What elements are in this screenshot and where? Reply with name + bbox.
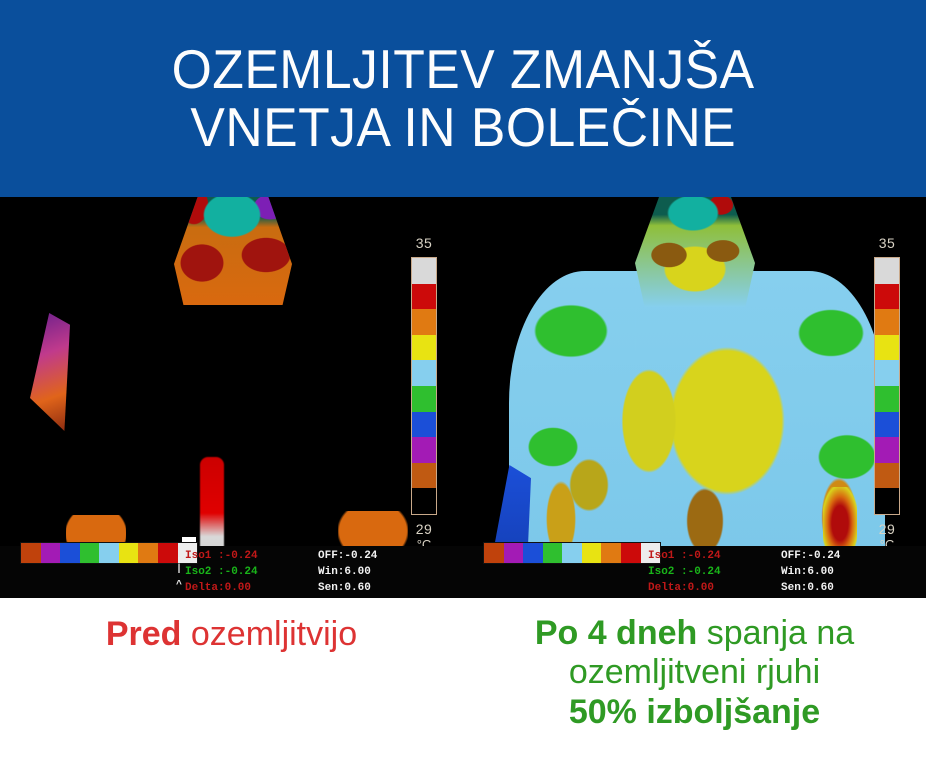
readout-off: OFF:-0.24 (318, 548, 458, 564)
readout-iso2: Iso2 :-0.24 (648, 564, 798, 580)
caption-after-line-3: 50% izboljšanje (463, 693, 926, 732)
colorbar-min-label: 29 (411, 521, 437, 537)
header-title-line-1: OZEMLJITEV ZMANJŠA (172, 41, 755, 98)
readout-iso1: Iso1 :-0.24 (185, 548, 335, 564)
caption-after: Po 4 dneh spanja na ozemljitveni rjuhi 5… (463, 598, 926, 782)
readout-sen: Sen:0.60 (318, 580, 458, 596)
readout-param-group: OFF:-0.24 Win:6.00 Sen:0.60 (318, 548, 458, 596)
readout-param-group: OFF:-0.24 Win:6.00 Sen:0.60 (781, 548, 921, 596)
colorbar-min-label: 29 (874, 521, 900, 537)
iso2-tick-marker: | (176, 564, 182, 575)
poster-root: OZEMLJITEV ZMANJŠA VNETJA IN BOLEČINE (0, 0, 926, 782)
poster-header: OZEMLJITEV ZMANJŠA VNETJA IN BOLEČINE (0, 0, 926, 197)
caption-before-text: Pred ozemljitvijo (0, 614, 463, 654)
caption-after-text: Po 4 dneh spanja na ozemljitveni rjuhi 5… (463, 614, 926, 732)
colorbar-max-label: 35 (411, 235, 437, 251)
camera-readout-before: | | ^ Iso1 :-0.24 Iso2 :-0.24 Delta:0.00… (0, 546, 463, 598)
readout-delta: Delta:0.00 (185, 580, 335, 596)
thermogram-strip: 35 29 °C | (0, 197, 926, 598)
neck-heat-region-after (635, 197, 755, 307)
thermogram-panel-after: 35 29 °C (463, 197, 926, 598)
readout-iso-group: Iso1 :-0.24 Iso2 :-0.24 Delta:0.00 (648, 548, 798, 596)
readout-delta: Delta:0.00 (648, 580, 798, 596)
caption-after-line-2: ozemljitveni rjuhi (463, 653, 926, 692)
temperature-colorbar-before: 35 29 °C (411, 235, 437, 552)
neck-heat-region-before (174, 197, 292, 305)
caption-before-bold: Pred (106, 615, 182, 653)
readout-iso2: Iso2 :-0.24 (185, 564, 335, 580)
delta-caret-marker: ^ (176, 580, 182, 591)
body-thermal-map-before (22, 197, 442, 557)
readout-off: OFF:-0.24 (781, 548, 921, 564)
body-thermal-map-after (485, 197, 905, 557)
caption-row: Pred ozemljitvijo Po 4 dneh spanja na oz… (0, 598, 926, 782)
left-shoulder-edge-before (30, 313, 70, 431)
header-title-line-2: VNETJA IN BOLEČINE (190, 99, 736, 156)
caption-before: Pred ozemljitvijo (0, 598, 463, 782)
temperature-colorbar-after: 35 29 °C (874, 235, 900, 552)
readout-iso-group: Iso1 :-0.24 Iso2 :-0.24 Delta:0.00 (185, 548, 335, 596)
readout-color-ramp (483, 542, 661, 564)
caption-after-line1-rest: spanja na (697, 614, 854, 652)
readout-color-ramp (20, 542, 198, 564)
thermogram-panel-before: 35 29 °C | (0, 197, 463, 598)
readout-win: Win:6.00 (318, 564, 458, 580)
caption-before-line: Pred ozemljitvijo (0, 614, 463, 654)
caption-after-line-1: Po 4 dneh spanja na (463, 614, 926, 653)
spine-hot-band-before (200, 457, 224, 559)
colorbar-gradient (874, 257, 900, 515)
readout-sen: Sen:0.60 (781, 580, 921, 596)
colorbar-gradient (411, 257, 437, 515)
caption-before-rest: ozemljitvijo (181, 615, 357, 653)
readout-win: Win:6.00 (781, 564, 921, 580)
colorbar-max-label: 35 (874, 235, 900, 251)
camera-readout-after: Iso1 :-0.24 Iso2 :-0.24 Delta:0.00 OFF:-… (463, 546, 926, 598)
readout-iso1: Iso1 :-0.24 (648, 548, 798, 564)
iso1-tick-marker: | (176, 548, 182, 559)
caption-after-bold: Po 4 dneh (535, 614, 697, 652)
